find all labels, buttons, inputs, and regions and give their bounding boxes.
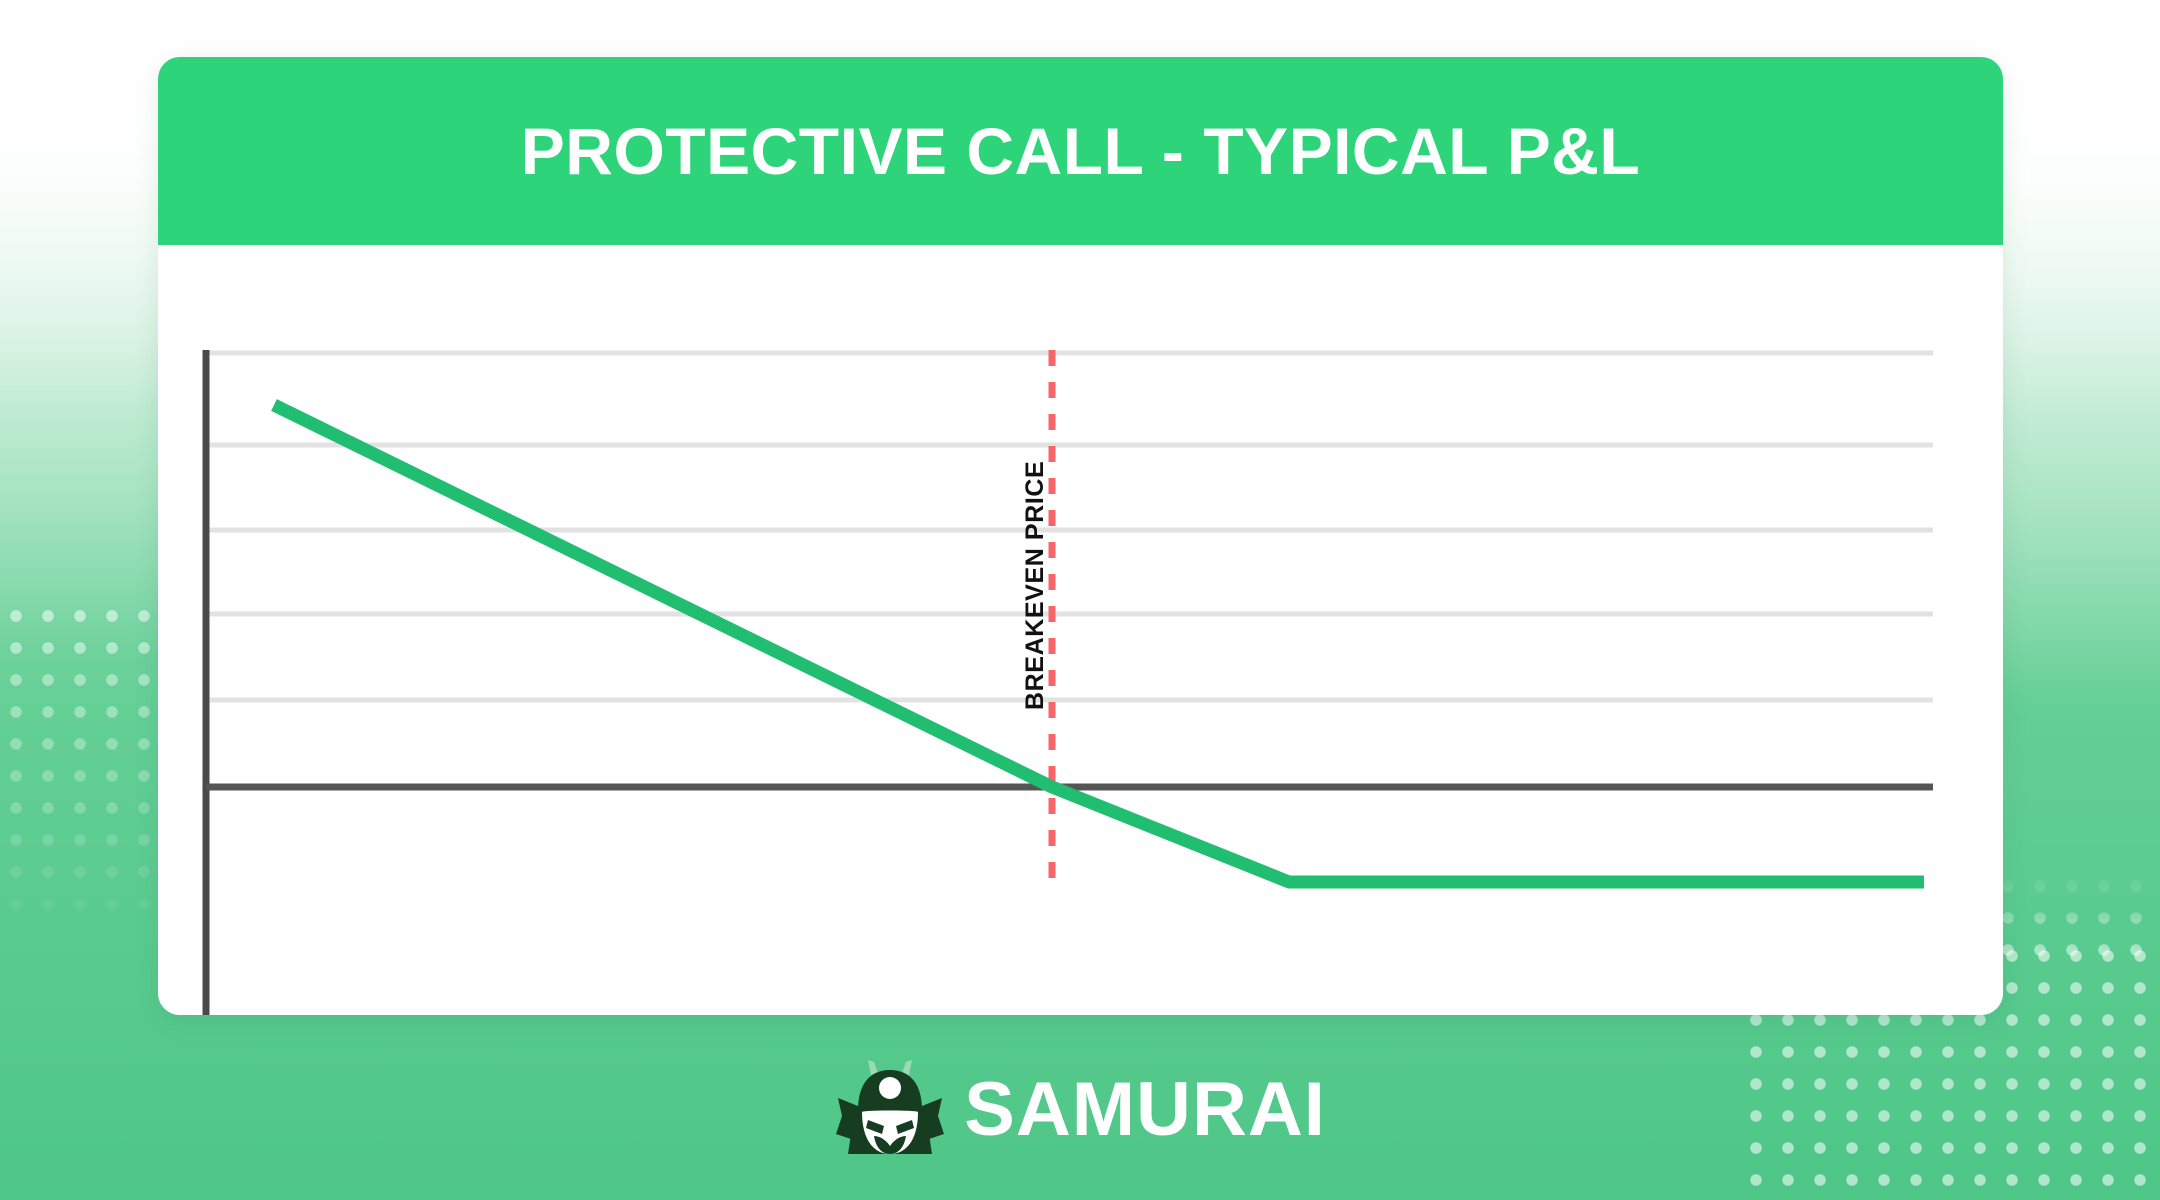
- card-body: 50 20 0 BREAKEVEN PRICE: [158, 245, 2003, 1015]
- chart-plot-area: 50 20 0 BREAKEVEN PRICE: [158, 245, 2003, 1015]
- card-header: PROTECTIVE CALL - TYPICAL P&L: [158, 57, 2003, 245]
- page-title: PROTECTIVE CALL - TYPICAL P&L: [521, 118, 1640, 184]
- pnl-line-chart: [158, 245, 2003, 1015]
- pnl-payoff-line: [274, 405, 1924, 882]
- brand-footer: SAMURAI: [0, 1058, 2160, 1162]
- samurai-helmet-icon: [834, 1058, 946, 1162]
- gridlines: [206, 353, 1933, 700]
- infographic-stage: PROTECTIVE CALL - TYPICAL P&L: [0, 0, 2160, 1200]
- chart-card: PROTECTIVE CALL - TYPICAL P&L: [158, 57, 2003, 1015]
- brand-name: SAMURAI: [964, 1072, 1326, 1148]
- breakeven-price-label: BREAKEVEN PRICE: [1021, 461, 1050, 710]
